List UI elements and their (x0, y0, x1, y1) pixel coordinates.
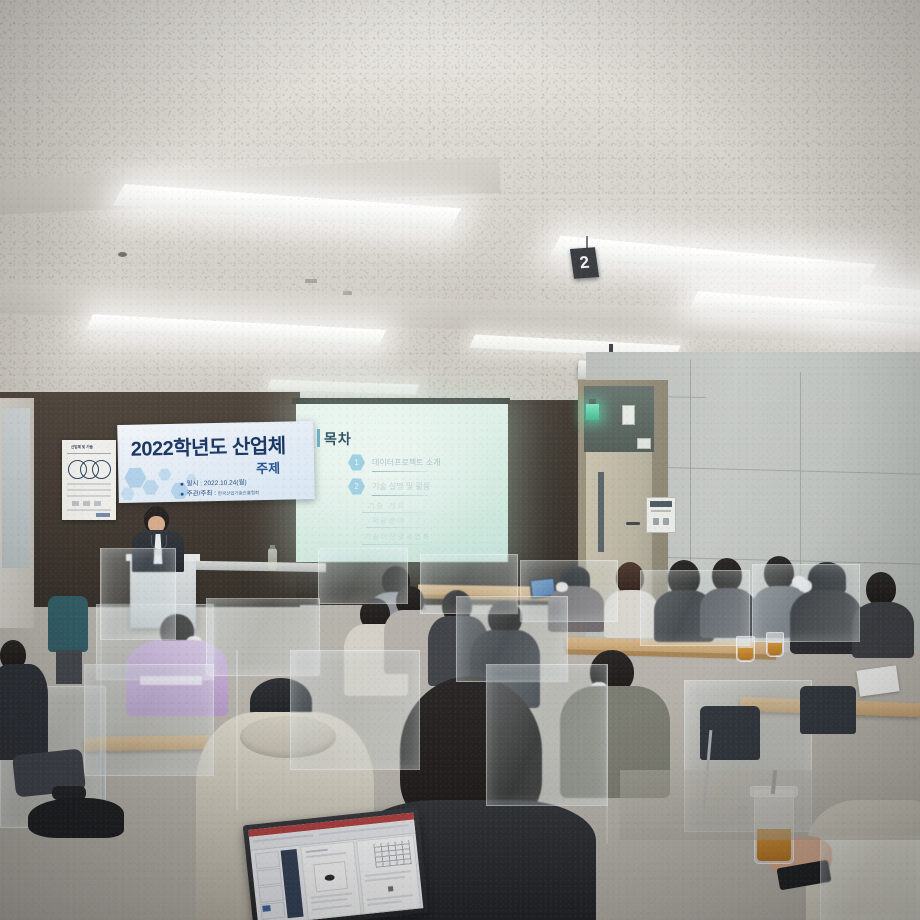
office-chair-teal[interactable] (48, 596, 88, 652)
toc-sub-rule-3 (362, 544, 430, 545)
left-wall-column-glass (2, 408, 30, 568)
toc-item-1-label: 데이터프로젝트 소개 (372, 457, 440, 468)
poster-table-cell-2 (83, 501, 90, 506)
laptop-document-pane[interactable] (300, 841, 361, 920)
drink-cup-right-desk-2[interactable] (766, 632, 784, 657)
right-wall-speaker-icon (622, 405, 635, 425)
floor-bag (28, 798, 124, 838)
wall-outlet-icon (637, 438, 651, 449)
toc-sub-item-2: 적 용 분 야 (372, 516, 404, 526)
banner-bullet-2 (181, 492, 184, 495)
poster-table-row-2 (67, 489, 111, 491)
banner-hex-2 (142, 479, 158, 495)
poster-ring-3 (92, 460, 111, 479)
banner-hex-3 (158, 468, 171, 481)
poster-table-cell-3 (94, 501, 101, 506)
handout-paper[interactable] (856, 665, 899, 696)
acrylic-edge-1 (236, 650, 238, 810)
student-head-b8 (866, 572, 896, 606)
laptop-table-pane[interactable] (356, 835, 421, 915)
table-marker (388, 886, 393, 891)
banner-subtitle: 주제 (256, 458, 280, 477)
drink-liquid-1 (738, 648, 753, 660)
banner-host-label: 주관/주최 (187, 490, 213, 498)
poster-table-row-3 (67, 495, 111, 497)
acrylic-divider-mid-5 (752, 564, 860, 642)
poster-title: 산업체 및 기술 (71, 445, 93, 450)
acrylic-edge-2 (100, 548, 102, 828)
door-vertical-glass (598, 472, 604, 552)
banner-bullet-1 (180, 482, 183, 485)
banner-hex-1 (124, 466, 146, 488)
floor (620, 770, 920, 840)
room-number-label: 2 (578, 253, 590, 273)
control-panel-display (650, 501, 672, 507)
ceiling-vent-icon (305, 279, 317, 283)
room-number-sign: 2 (570, 247, 599, 278)
slide-title-bar (317, 429, 320, 447)
student-body-b8 (852, 602, 914, 658)
doc-line-1 (306, 849, 328, 853)
drink-liquid-2 (768, 643, 782, 655)
control-panel-button-1[interactable] (653, 518, 659, 525)
smoke-detector-icon (118, 252, 127, 257)
poster-subtitle-line (67, 453, 111, 454)
poster-logo (96, 513, 110, 517)
exit-sign-bracket (589, 399, 596, 404)
toc-sub-rule-1 (362, 512, 426, 513)
slide-title: 목차 (324, 429, 352, 449)
laptop-slide-thumb-2[interactable] (256, 868, 282, 886)
table-line-2 (365, 876, 405, 882)
laptop[interactable] (243, 807, 430, 920)
event-banner: 2022학년도 산업체 주제 일시 : 2022.10.24(월) 주관/주최 … (117, 421, 315, 503)
toc-marker-2-label: 2 (354, 482, 358, 491)
toc-rule-1 (372, 471, 428, 472)
ceiling-speaker-icon (343, 291, 352, 295)
wall-control-panel[interactable] (646, 497, 676, 533)
doc-line-2 (306, 852, 346, 858)
drink-cup-right-desk[interactable] (736, 636, 755, 662)
bottle-cap-icon (270, 545, 275, 549)
doc-line-5 (312, 905, 352, 911)
table-line-3 (367, 894, 413, 900)
acrylic-divider-front-7 (820, 836, 920, 920)
emergency-exit-sign (586, 404, 599, 420)
left-person-body (0, 664, 48, 760)
projection-screen: 목차 1 데이터프로젝트 소개 2 기술 설명 및 활용 기 술 · 개 요 적… (296, 404, 508, 562)
toc-sub-item-1: 기 술 · 개 요 (368, 501, 404, 511)
door-handle-icon[interactable] (626, 522, 640, 525)
banner-host-value: 한국산업기술진흥협회 (218, 490, 260, 496)
banner-host-line: 주관/주최 : 한국산업기술진흥협회 (181, 486, 260, 498)
banner-title: 2022학년도 산업체 (130, 430, 286, 462)
doc-line-4 (311, 898, 347, 903)
laptop-thumb-highlight (262, 905, 271, 912)
lecture-hall-photo: 2 목차 1 (0, 0, 920, 920)
control-panel-button-2[interactable] (663, 518, 669, 525)
toc-sub-item-3: 기 술 이 전 및 사 업 화 (364, 532, 429, 542)
acrylic-divider-front-2 (84, 664, 214, 776)
toc-rule-2 (372, 495, 428, 496)
banner-hex-5 (121, 487, 135, 501)
laptop-screen (248, 813, 423, 920)
chair-back-right-2[interactable] (800, 686, 856, 734)
poster-table-row-1 (67, 483, 111, 485)
control-panel-label (651, 510, 671, 512)
acrylic-divider-back-1 (318, 548, 408, 604)
poster-table-row-4 (67, 509, 111, 511)
acrylic-divider-front-6 (100, 548, 176, 640)
toc-marker-1-label: 1 (354, 458, 358, 467)
office-chair-base (56, 650, 82, 684)
wall-poster: 산업체 및 기술 (62, 440, 116, 520)
laptop-slide-thumb-1[interactable] (255, 851, 281, 869)
acrylic-divider-mid-4 (640, 570, 750, 646)
acrylic-edge-3 (606, 664, 608, 844)
acrylic-divider-front-3 (290, 650, 420, 770)
laptop-slide-thumb-3[interactable] (258, 885, 284, 903)
poster-table-cell-1 (72, 501, 79, 506)
table-grid (373, 840, 411, 868)
water-bottle (268, 548, 277, 570)
toc-item-2-label: 기술 설명 및 활용 (372, 481, 430, 492)
table-line-4 (368, 900, 402, 905)
acrylic-divider-front-4 (486, 664, 608, 806)
toc-sub-rule-2 (366, 527, 424, 528)
